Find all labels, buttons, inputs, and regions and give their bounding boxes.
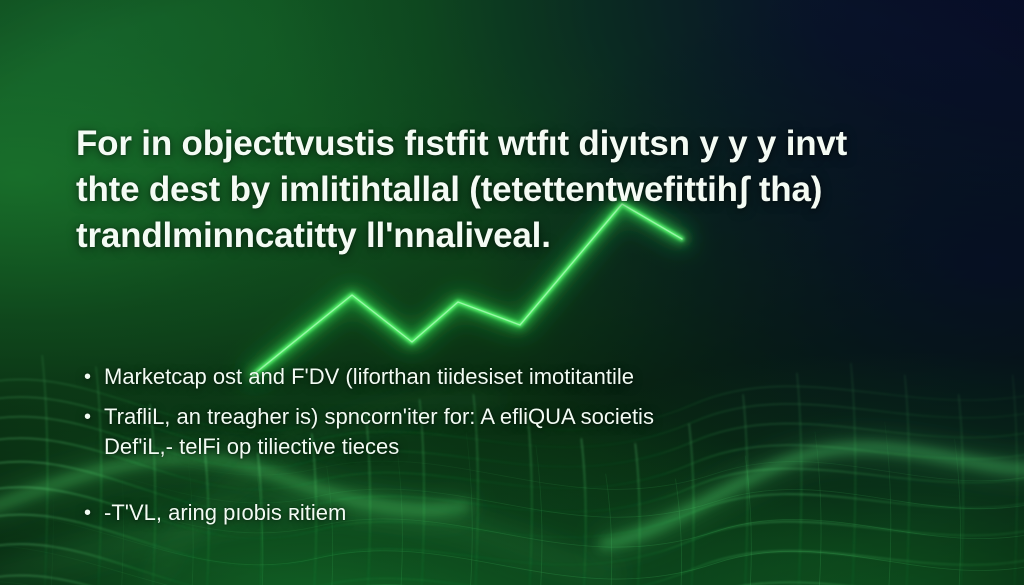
- slide-canvas: For in objecttvustis fıstfit wtfıt diyıt…: [0, 0, 1024, 585]
- bullet-marker-icon: •: [84, 362, 101, 392]
- bullet-marker-icon: •: [84, 498, 101, 528]
- list-item-label: -T'VL, aring pıobis ʀitiem: [104, 498, 904, 528]
- headline-text: For in objecttvustis fıstfit wtfıt diyıt…: [76, 121, 916, 259]
- list-item: • TrafliL, an treagher is) spncorn'iter …: [84, 402, 904, 462]
- list-item-label: Marketcap ost and F'DV (liforthan tiides…: [104, 362, 904, 392]
- bullet-marker-icon: •: [84, 402, 101, 432]
- slide-content: For in objecttvustis fıstfit wtfıt diyıt…: [0, 0, 1024, 585]
- list-item-label: TrafliL, an treagher is) spncorn'iter fo…: [104, 402, 904, 462]
- list-item: • Marketcap ost and F'DV (liforthan tiid…: [84, 362, 904, 392]
- bullet-list: • Marketcap ost and F'DV (liforthan tiid…: [84, 362, 904, 528]
- list-item: • -T'VL, aring pıobis ʀitiem: [84, 498, 904, 528]
